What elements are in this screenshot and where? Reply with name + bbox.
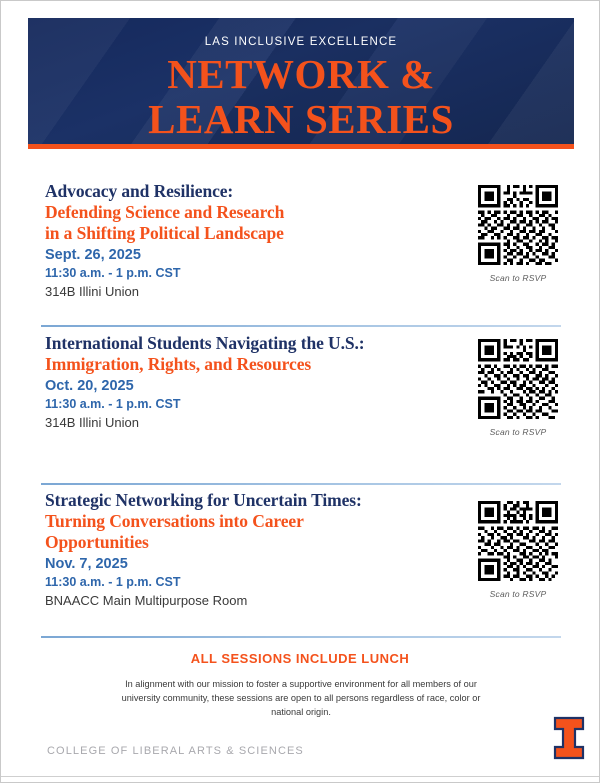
event-time: 11:30 a.m. - 1 p.m. CST xyxy=(45,396,465,413)
event-location: BNAACC Main Multipurpose Room xyxy=(45,592,465,610)
header-banner: LAS INCLUSIVE EXCELLENCE NETWORK & LEARN… xyxy=(28,18,574,149)
banner-accent-bar xyxy=(28,144,574,149)
flyer-page: LAS INCLUSIVE EXCELLENCE NETWORK & LEARN… xyxy=(0,0,600,783)
section-divider xyxy=(41,325,561,327)
qr-caption: Scan to RSVP xyxy=(463,273,573,283)
event-time: 11:30 a.m. - 1 p.m. CST xyxy=(45,265,445,282)
event-title-line3: in a Shifting Political Landscape xyxy=(45,223,445,244)
qr-code-icon[interactable] xyxy=(478,185,558,265)
event-item: Advocacy and Resilience: Defending Scien… xyxy=(45,181,445,301)
page-bottom-rule xyxy=(1,776,599,777)
event-title-line2: Turning Conversations into Career xyxy=(45,511,465,532)
disclaimer-text: In alignment with our mission to foster … xyxy=(121,677,481,719)
banner-eyebrow: LAS INCLUSIVE EXCELLENCE xyxy=(28,36,574,48)
qr-block[interactable]: Scan to RSVP xyxy=(463,339,573,437)
event-title-line1: International Students Navigating the U.… xyxy=(45,333,465,354)
section-divider xyxy=(41,483,561,485)
event-location: 314B Illini Union xyxy=(45,414,465,432)
event-title-line1: Advocacy and Resilience: xyxy=(45,181,445,202)
event-item: International Students Navigating the U.… xyxy=(45,333,465,432)
illinois-block-i-logo-icon xyxy=(553,716,585,760)
banner-title: NETWORK & LEARN SERIES xyxy=(28,52,574,142)
banner-title-line1: NETWORK & xyxy=(28,52,574,97)
event-title-line1: Strategic Networking for Uncertain Times… xyxy=(45,490,465,511)
event-date: Sept. 26, 2025 xyxy=(45,246,445,265)
lunch-note: ALL SESSIONS INCLUDE LUNCH xyxy=(1,651,599,666)
event-date: Oct. 20, 2025 xyxy=(45,377,465,396)
qr-block[interactable]: Scan to RSVP xyxy=(463,185,573,283)
event-title-line2: Immigration, Rights, and Resources xyxy=(45,354,465,375)
qr-caption: Scan to RSVP xyxy=(463,427,573,437)
qr-caption: Scan to RSVP xyxy=(463,589,573,599)
event-title-line3: Opportunities xyxy=(45,532,465,553)
event-time: 11:30 a.m. - 1 p.m. CST xyxy=(45,574,465,591)
event-title-line2: Defending Science and Research xyxy=(45,202,445,223)
qr-code-icon[interactable] xyxy=(478,501,558,581)
college-name: COLLEGE OF LIBERAL ARTS & SCIENCES xyxy=(47,745,304,757)
event-item: Strategic Networking for Uncertain Times… xyxy=(45,490,465,610)
event-location: 314B Illini Union xyxy=(45,283,445,301)
qr-block[interactable]: Scan to RSVP xyxy=(463,501,573,599)
qr-code-icon[interactable] xyxy=(478,339,558,419)
section-divider xyxy=(41,636,561,638)
event-date: Nov. 7, 2025 xyxy=(45,555,465,574)
banner-title-line2: LEARN SERIES xyxy=(28,97,574,142)
